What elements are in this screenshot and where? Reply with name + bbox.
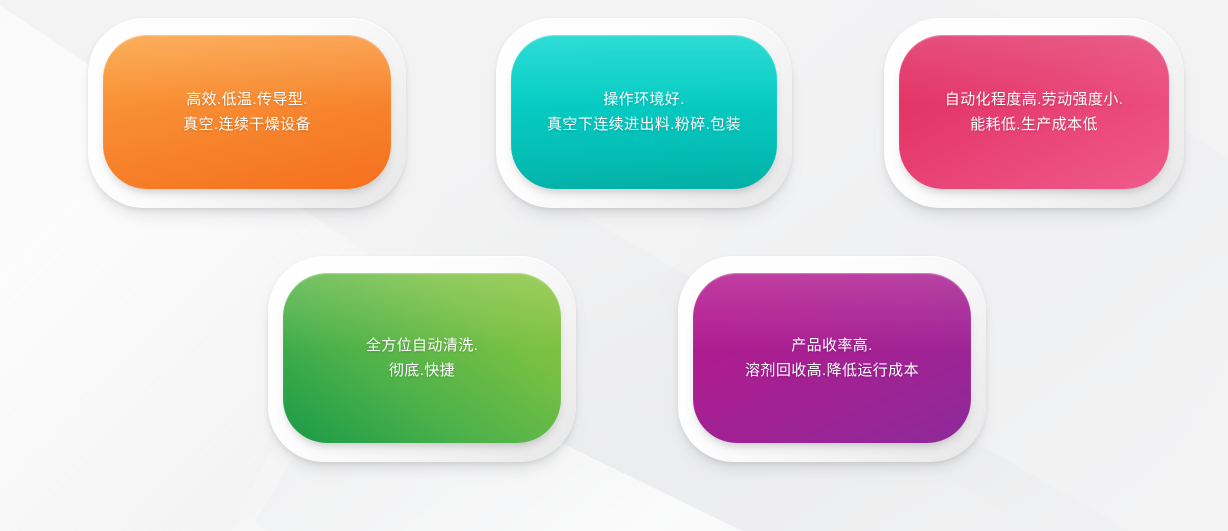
card-face-environment: 操作环境好. 真空下连续进出料.粉碎.包装 [511, 35, 777, 189]
card-face-yield: 产品收率高. 溶剂回收高.降低运行成本 [693, 273, 971, 443]
card-face-efficiency: 高效.低温.传导型. 真空.连续干燥设备 [103, 35, 391, 189]
card-caption-efficiency: 高效.低温.传导型. 真空.连续干燥设备 [169, 87, 325, 137]
card-cleaning[interactable]: 全方位自动清洗. 彻底.快捷 [268, 256, 576, 462]
card-caption-yield: 产品收率高. 溶剂回收高.降低运行成本 [731, 333, 933, 383]
feature-card-board: 高效.低温.传导型. 真空.连续干燥设备 操作环境好. 真空下连续进出料.粉碎.… [0, 0, 1228, 531]
card-face-cleaning: 全方位自动清洗. 彻底.快捷 [283, 273, 561, 443]
card-automation[interactable]: 自动化程度高.劳动强度小. 能耗低.生产成本低 [884, 18, 1184, 208]
card-yield[interactable]: 产品收率高. 溶剂回收高.降低运行成本 [678, 256, 986, 462]
card-caption-environment: 操作环境好. 真空下连续进出料.粉碎.包装 [533, 87, 755, 137]
card-efficiency[interactable]: 高效.低温.传导型. 真空.连续干燥设备 [88, 18, 406, 208]
card-caption-cleaning: 全方位自动清洗. 彻底.快捷 [352, 333, 492, 383]
card-caption-automation: 自动化程度高.劳动强度小. 能耗低.生产成本低 [931, 87, 1138, 137]
card-environment[interactable]: 操作环境好. 真空下连续进出料.粉碎.包装 [496, 18, 792, 208]
card-face-automation: 自动化程度高.劳动强度小. 能耗低.生产成本低 [899, 35, 1169, 189]
